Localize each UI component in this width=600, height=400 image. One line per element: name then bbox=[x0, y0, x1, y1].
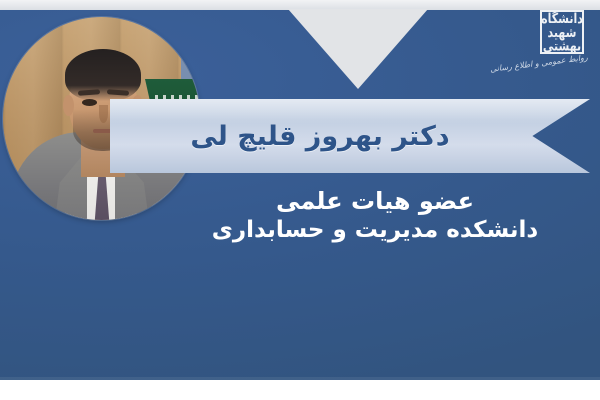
eye-left bbox=[82, 99, 97, 106]
name-ribbon: دکتر بهروز قلیچ لی bbox=[110, 99, 590, 173]
hair bbox=[65, 49, 141, 101]
nose bbox=[99, 105, 108, 123]
public-relations-caption: روابط عمومی و اطلاع رسانی bbox=[504, 53, 589, 73]
emblem-glyphs: دانشگاه شهید بهشتی bbox=[541, 11, 583, 52]
subtitle-position: عضو هیات علمی bbox=[180, 186, 570, 216]
emblem-line-2: شهید bbox=[541, 25, 583, 39]
emblem-line-3: بهشتی bbox=[541, 39, 583, 53]
page-title: دکتر بهروز قلیچ لی bbox=[190, 121, 509, 152]
profile-card: دکتر بهروز قلیچ لی عضو هیات علمی دانشکده… bbox=[0, 0, 600, 400]
subtitle-department: دانشکده مدیریت و حسابداری bbox=[180, 216, 570, 246]
university-logo: دانشگاه شهید بهشتی روابط عمومی و اطلاع ر… bbox=[504, 8, 588, 94]
emblem-line-1: دانشگاه bbox=[541, 11, 583, 25]
shahid-beheshti-emblem-icon: دانشگاه شهید بهشتی bbox=[540, 10, 584, 54]
subtitle-block: عضو هیات علمی دانشکده مدیریت و حسابداری bbox=[180, 186, 570, 246]
